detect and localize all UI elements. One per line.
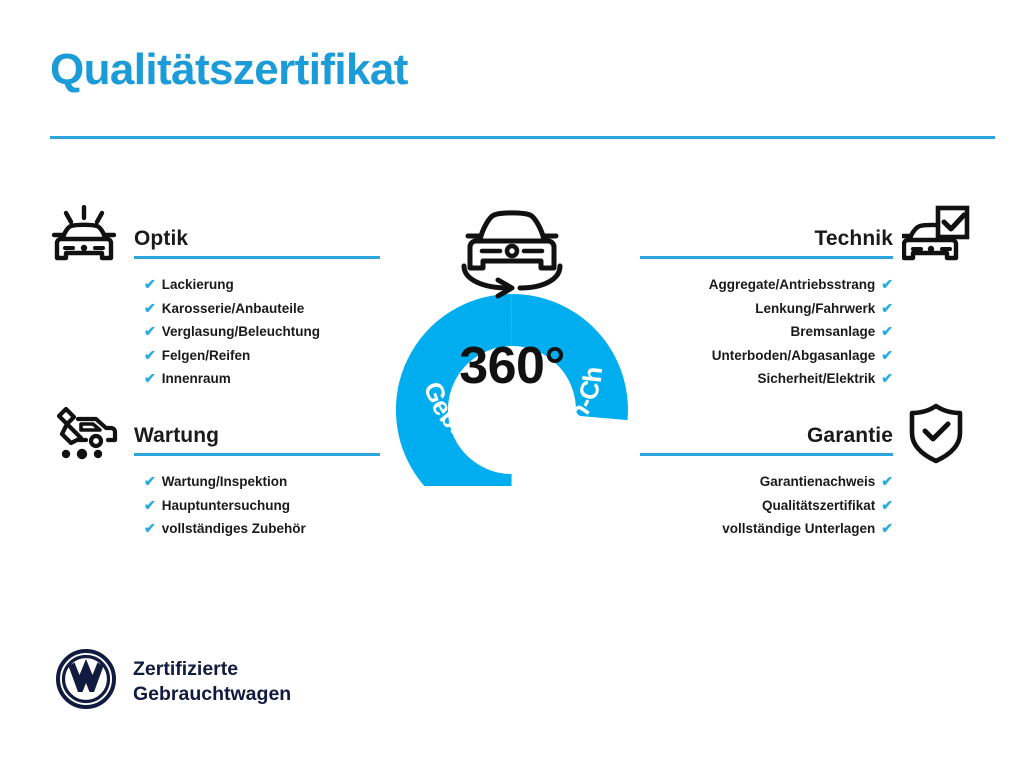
list-item-label: Verglasung/Beleuchtung [162,324,320,339]
list-item-label: Wartung/Inspektion [162,474,288,489]
check-icon: ✔ [881,470,893,494]
check-icon: ✔ [881,273,893,297]
badge-360-gebrauchtwagen-check: Gebrauchtwagen-Check 360° [378,196,646,486]
checklist-optik: ✔Lackierung ✔Karosserie/Anbauteile ✔Verg… [144,273,380,391]
list-item: ✔Hauptuntersuchung [144,494,380,518]
list-item: Sicherheit/Elektrik✔ [640,367,893,391]
list-item-label: Aggregate/Antriebsstrang [709,277,876,292]
section-header-wartung: Wartung [50,402,380,462]
list-item: Lenkung/Fahrwerk✔ [640,297,893,321]
section-title: Optik [134,228,188,249]
check-icon: ✔ [881,367,893,391]
checklist-garantie: Garantienachweis✔ Qualitätszertifikat✔ v… [640,470,893,541]
list-item-label: vollständiges Zubehör [162,521,306,536]
checklist-wartung: ✔Wartung/Inspektion ✔Hauptuntersuchung ✔… [144,470,380,541]
header-divider [50,136,995,139]
page-title: Qualitätszertifikat [50,46,408,94]
certificate-page: Qualitätszertifikat [0,0,1024,768]
list-item: Garantienachweis✔ [640,470,893,494]
list-item-label: Hauptuntersuchung [162,498,290,513]
list-item: ✔Verglasung/Beleuchtung [144,320,380,344]
section-title: Wartung [134,425,219,446]
pencil-car-service-icon [50,402,118,469]
check-icon: ✔ [144,494,156,518]
list-item: ✔Karosserie/Anbauteile [144,297,380,321]
section-technik: Technik Aggregate/Antriebsstrang✔ Lenkun… [640,205,970,391]
list-item: Unterboden/Abgasanlage✔ [640,344,893,368]
section-title: Garantie [807,425,893,446]
list-item: ✔Lackierung [144,273,380,297]
list-item: ✔Wartung/Inspektion [144,470,380,494]
section-divider [640,256,893,259]
shield-check-icon [902,402,970,469]
footer-logo-text: Zertifizierte Gebrauchtwagen [133,657,291,707]
section-header-optik: Optik [50,205,380,265]
check-icon: ✔ [881,494,893,518]
check-icon: ✔ [881,320,893,344]
check-icon: ✔ [144,297,156,321]
list-item: ✔Felgen/Reifen [144,344,380,368]
section-title: Technik [815,228,894,249]
list-item-label: Felgen/Reifen [162,348,251,363]
list-item-label: Qualitätszertifikat [762,498,875,513]
badge-number: 360° [378,336,646,396]
list-item: vollständige Unterlagen✔ [640,517,893,541]
section-divider [134,453,380,456]
footer-line-2: Gebrauchtwagen [133,683,291,705]
section-wartung: Wartung ✔Wartung/Inspektion ✔Hauptunters… [50,402,380,541]
car-checkbox-icon [902,205,970,272]
check-icon: ✔ [144,344,156,368]
list-item-label: Innenraum [162,371,231,386]
check-icon: ✔ [881,297,893,321]
list-item-label: Lackierung [162,277,234,292]
section-header-garantie: Garantie [640,402,970,462]
list-item-label: Bremsanlage [790,324,875,339]
section-garantie: Garantie Garantienachweis✔ Qualitätszert… [640,402,970,541]
footer-logo-lockup: Zertifizierte Gebrauchtwagen [55,648,291,715]
list-item: ✔vollständiges Zubehör [144,517,380,541]
car-polish-shine-icon [50,205,118,272]
car-rotate-360-icon [446,196,578,305]
check-icon: ✔ [144,517,156,541]
section-optik: Optik ✔Lackierung ✔Karosserie/Anbauteile… [50,205,380,391]
list-item-label: Unterboden/Abgasanlage [712,348,876,363]
list-item-label: Garantienachweis [760,474,876,489]
list-item: Bremsanlage✔ [640,320,893,344]
volkswagen-logo [55,648,117,715]
checklist-technik: Aggregate/Antriebsstrang✔ Lenkung/Fahrwe… [640,273,893,391]
list-item: ✔Innenraum [144,367,380,391]
section-divider [134,256,380,259]
list-item-label: Karosserie/Anbauteile [162,301,305,316]
footer-line-1: Zertifizierte [133,658,238,680]
section-header-technik: Technik [640,205,970,265]
check-icon: ✔ [144,367,156,391]
section-divider [640,453,893,456]
list-item-label: Sicherheit/Elektrik [757,371,875,386]
check-icon: ✔ [144,320,156,344]
check-icon: ✔ [881,344,893,368]
list-item-label: Lenkung/Fahrwerk [755,301,875,316]
list-item-label: vollständige Unterlagen [722,521,875,536]
list-item: Aggregate/Antriebsstrang✔ [640,273,893,297]
check-icon: ✔ [144,273,156,297]
check-icon: ✔ [881,517,893,541]
check-icon: ✔ [144,470,156,494]
list-item: Qualitätszertifikat✔ [640,494,893,518]
